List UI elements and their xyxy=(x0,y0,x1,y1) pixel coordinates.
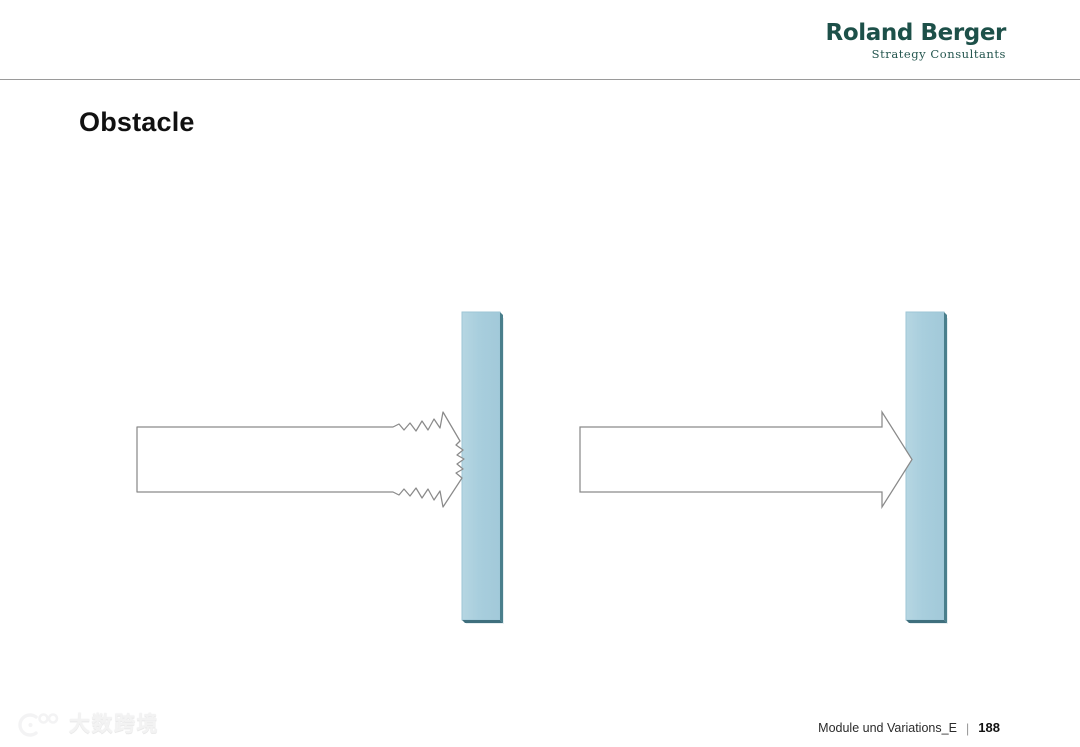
footer-separator: | xyxy=(966,721,969,736)
watermark: 大数跨境 xyxy=(18,709,159,739)
slide-header: Roland Berger Strategy Consultants xyxy=(0,0,1080,81)
footer-page-number: 188 xyxy=(978,720,1000,735)
slide-footer: Module und Variations_E | 188 xyxy=(818,720,1000,735)
wall-shadow-right xyxy=(910,318,948,624)
wall-edge-right xyxy=(944,312,947,623)
watermark-text: 大数跨境 xyxy=(69,714,159,735)
footer-document-name: Module und Variations_E xyxy=(818,721,957,735)
roland-berger-logo: Roland Berger Strategy Consultants xyxy=(826,22,1006,61)
arrow-unblocked xyxy=(580,412,912,507)
page-title: Obstacle xyxy=(79,107,195,138)
obstacle-wall-left xyxy=(462,312,500,620)
wall-edge-left xyxy=(500,312,503,623)
wall-shadow-left xyxy=(466,318,504,624)
watermark-logo-icon xyxy=(18,709,60,739)
diagram-item-blocked xyxy=(137,312,504,624)
logo-wordmark: Roland Berger xyxy=(826,22,1006,45)
diagram-item-unblocked xyxy=(580,312,948,624)
wall-bottom-edge-right xyxy=(906,620,947,623)
arrow-blocked xyxy=(137,412,464,507)
logo-tagline: Strategy Consultants xyxy=(826,49,1006,61)
slide: Roland Berger Strategy Consultants Obsta… xyxy=(0,0,1080,747)
header-divider xyxy=(0,79,1080,80)
obstacle-wall-right xyxy=(906,312,944,620)
wall-bottom-edge-left xyxy=(462,620,503,623)
